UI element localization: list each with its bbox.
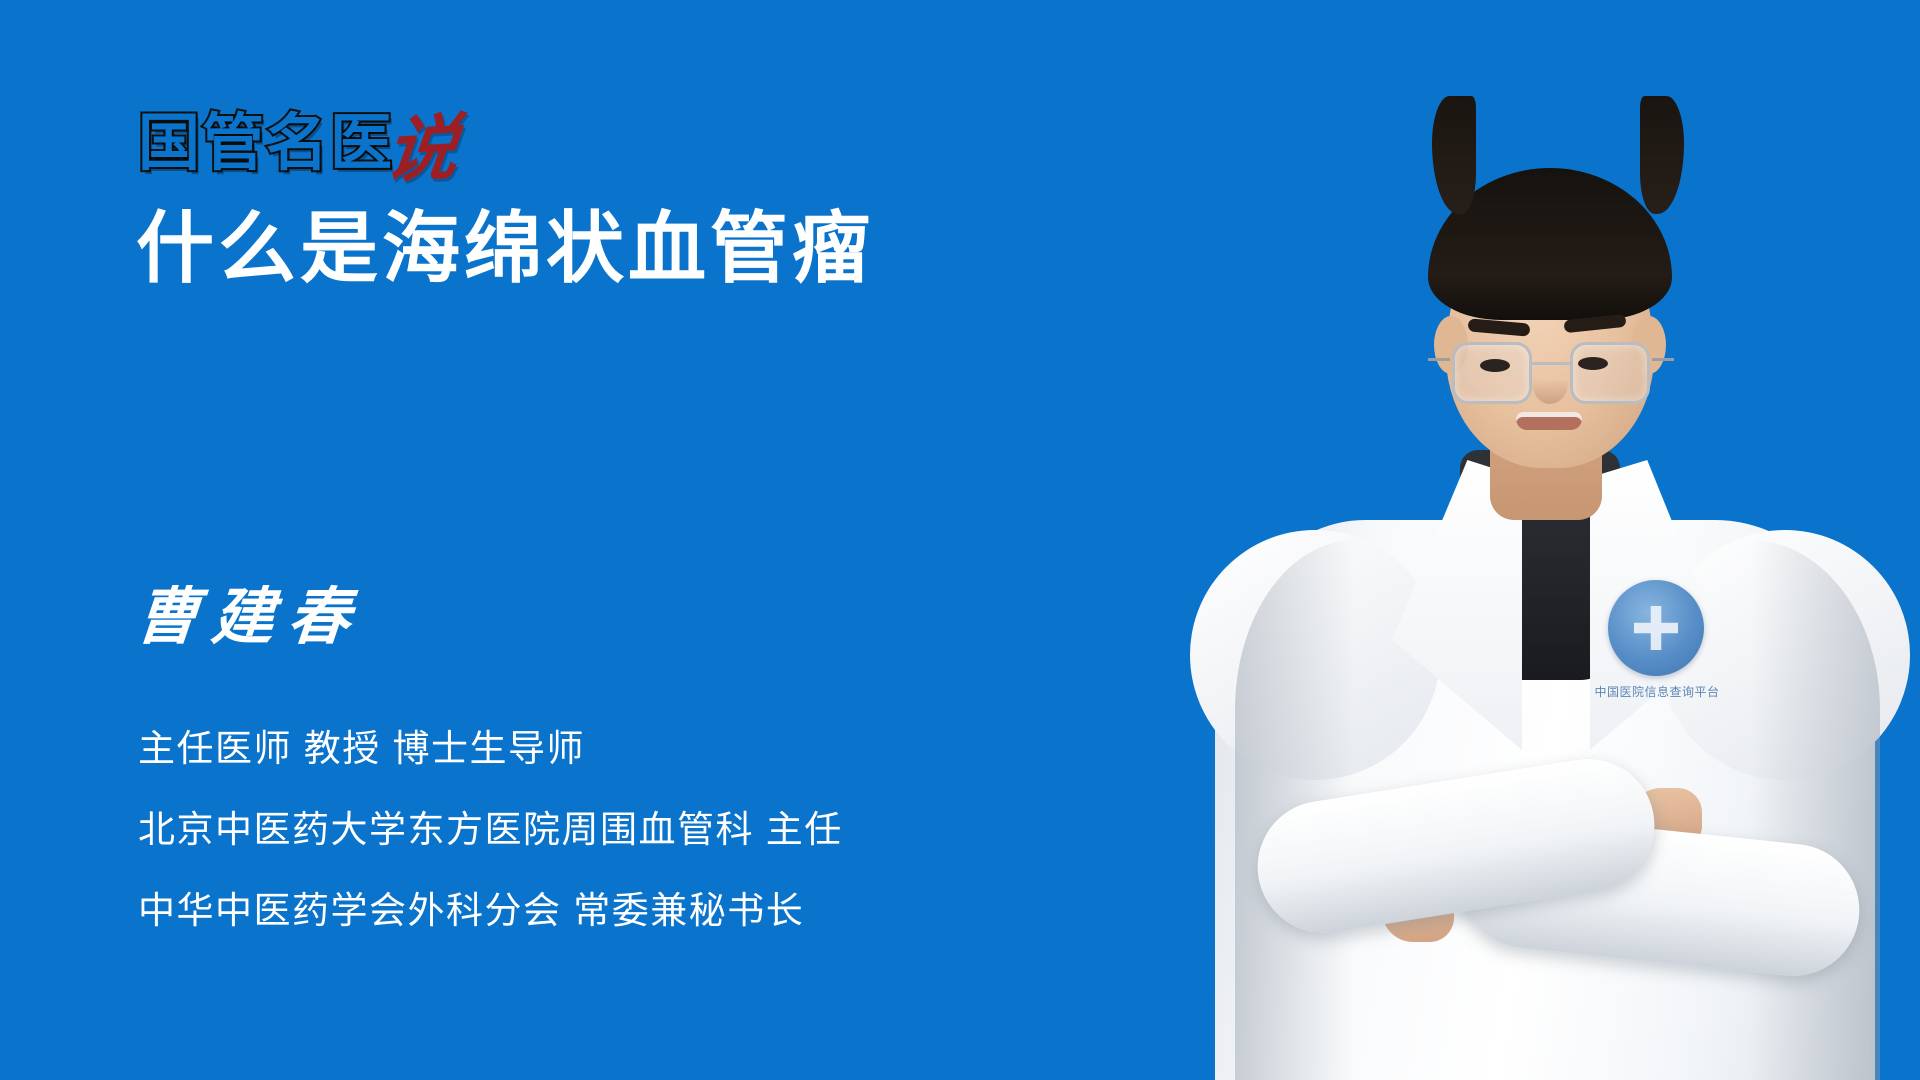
hair-side-left [1432,96,1476,214]
page-title: 什么是海绵状血管瘤 [136,206,874,292]
eye-left [1480,359,1510,372]
glasses-temple-left [1428,358,1450,361]
glasses-temple-right [1652,358,1674,361]
video-title-slide: 国管名医 说 什么是海绵状血管瘤 曹建春 主任医师 教授 博士生导师 北京中医药… [0,0,1920,1080]
brand-logo-accent-text: 说 [382,115,461,183]
eyeglasses [1446,342,1656,404]
coat-emblem-label: 中国医院信息查询平台 [1572,683,1742,700]
coat-shading-right [1750,540,1880,1080]
lens-right [1570,342,1650,404]
speaker-portrait-photo: 中国医院信息查询平台 [1160,0,1920,1080]
brand-logo: 国管名医 说 [138,88,458,174]
eye-right [1578,357,1608,370]
hair-side-right [1640,96,1684,214]
speaker-credentials: 主任医师 教授 博士生导师 北京中医药大学东方医院周围血管科 主任 中华中医药学… [138,730,843,929]
credential-line: 中华中医药学会外科分会 常委兼秘书长 [138,892,843,929]
brand-logo-outline-text: 国管名医 [138,112,394,174]
credential-line: 主任医师 教授 博士生导师 [138,730,843,767]
glasses-bridge [1532,362,1570,365]
credential-line: 北京中医药大学东方医院周围血管科 主任 [138,811,843,848]
mouth [1516,412,1582,430]
hospital-platform-emblem-icon [1608,580,1704,676]
lens-left [1452,342,1532,404]
speaker-name: 曹建春 [133,586,366,648]
